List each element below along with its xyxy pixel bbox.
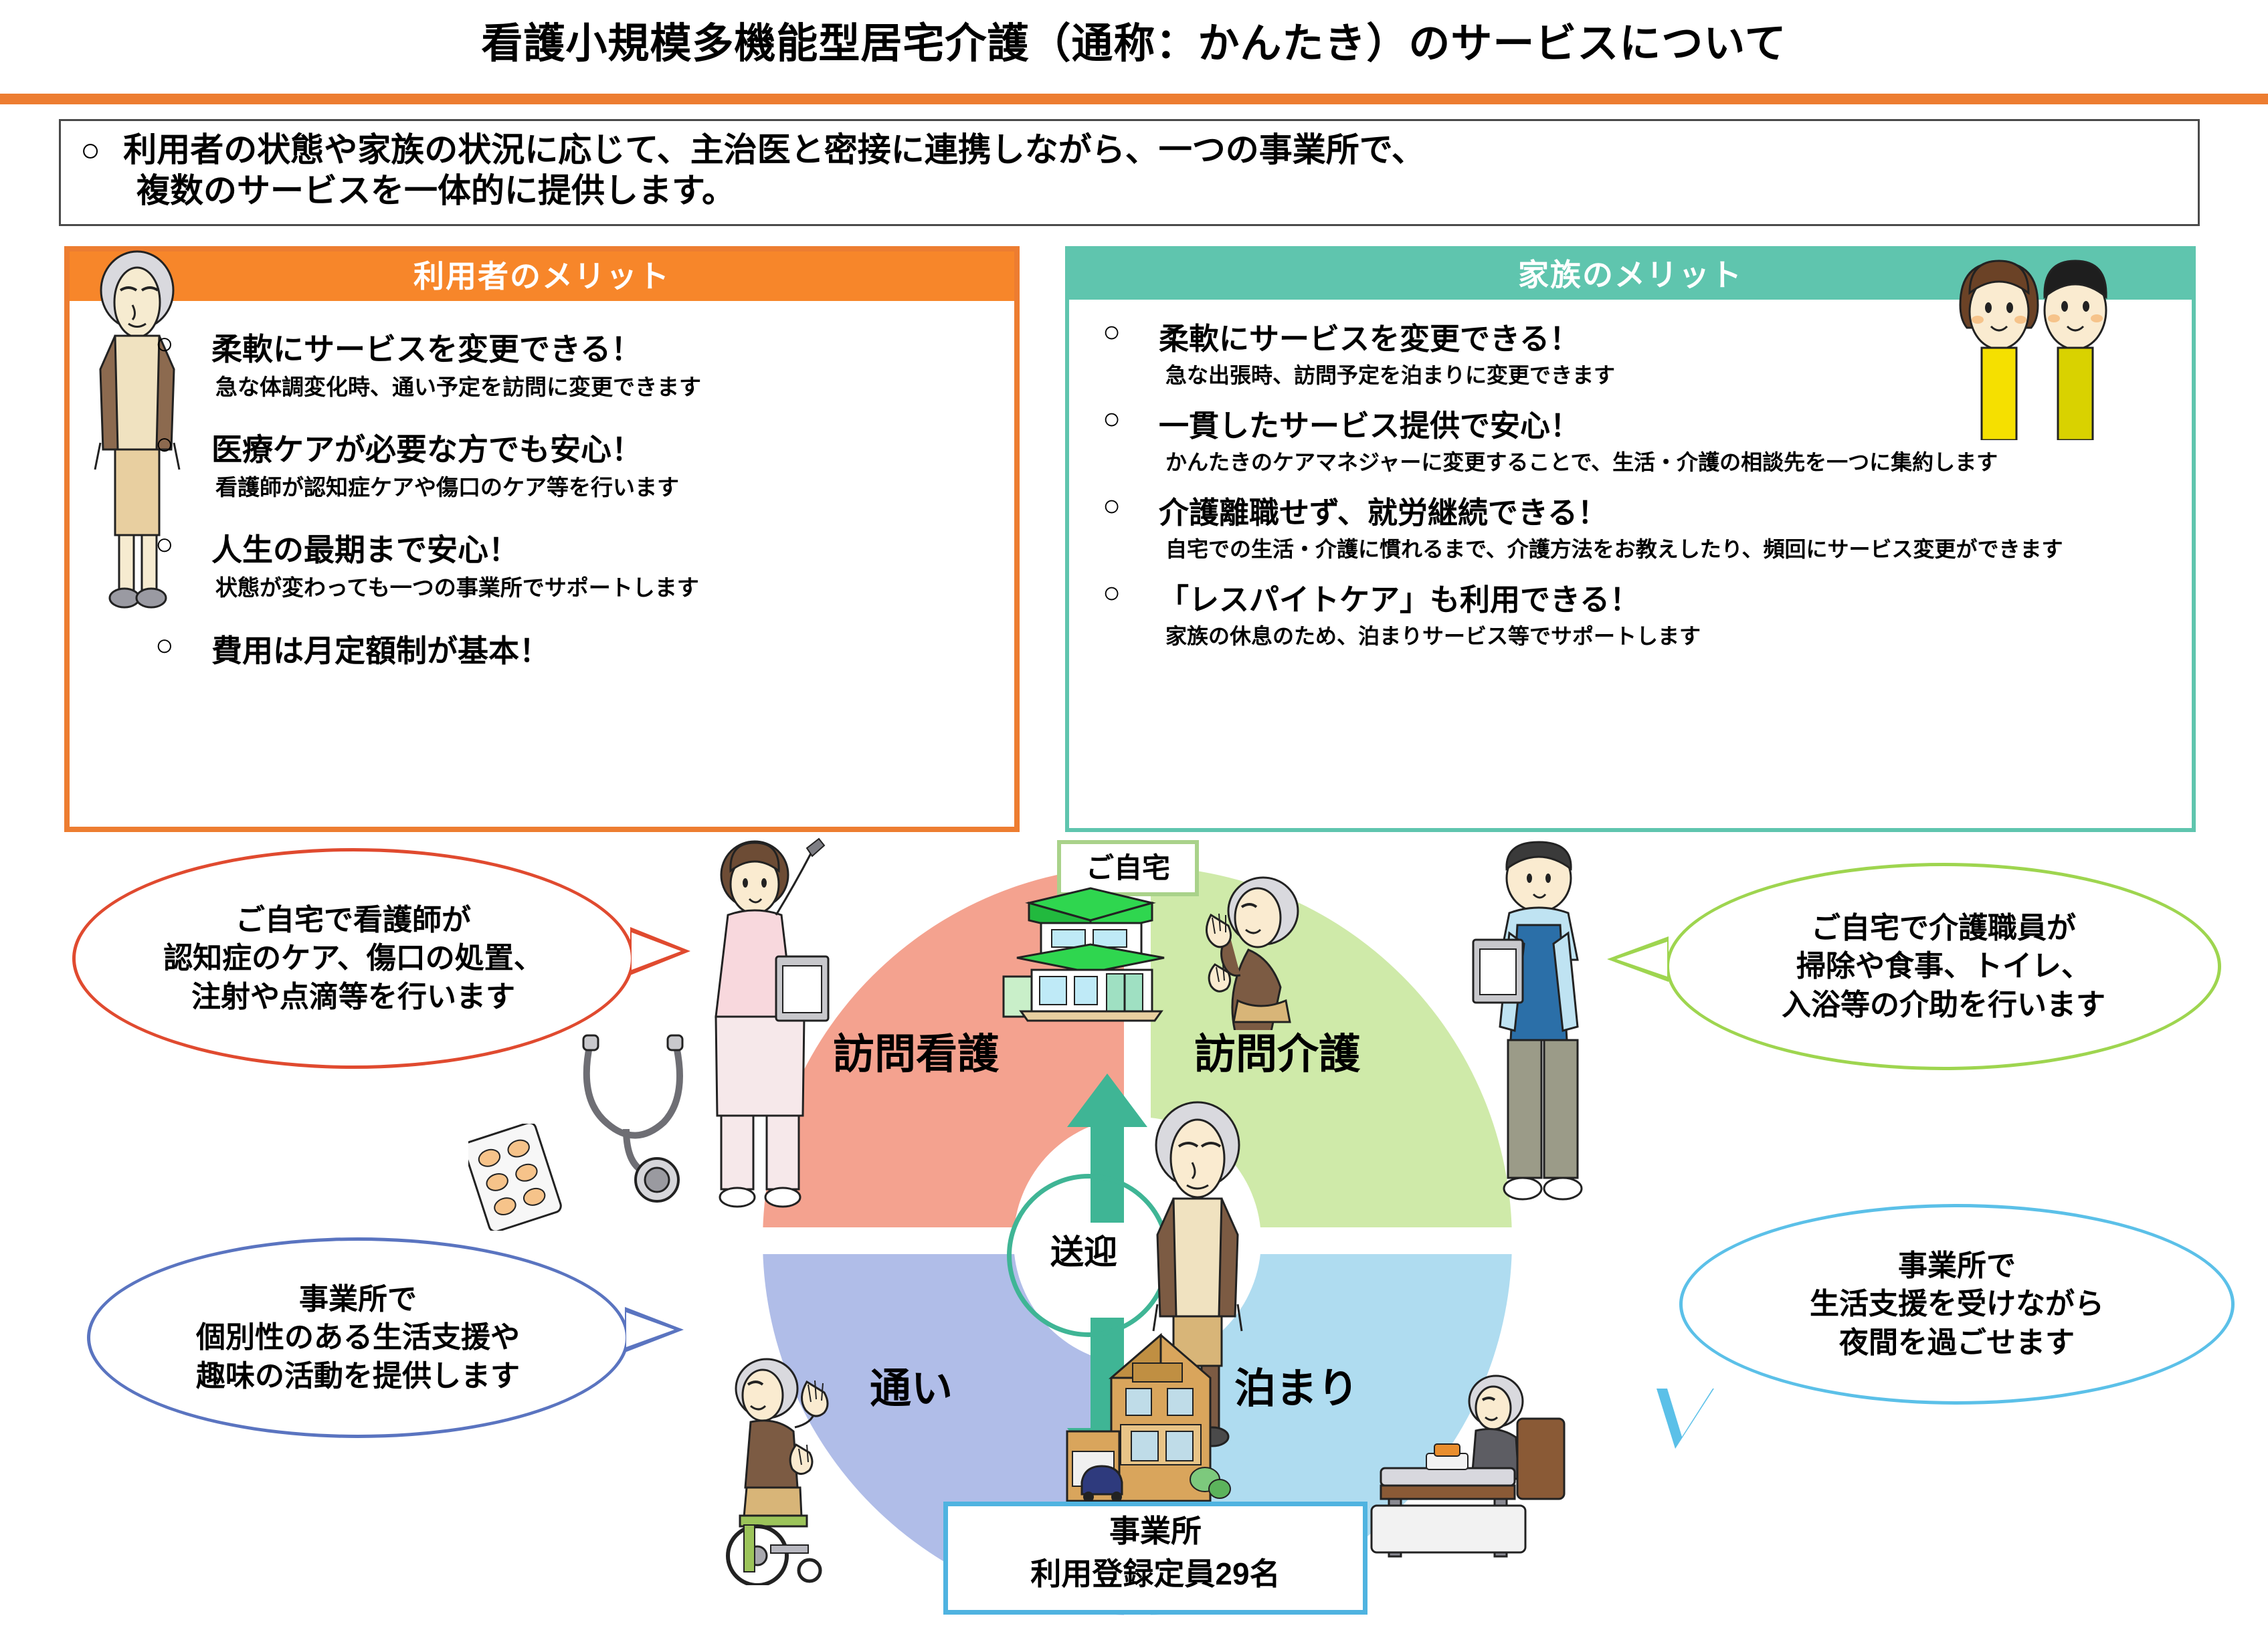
bubble-tail-inner bbox=[1616, 942, 1667, 977]
pill-sheet-icon bbox=[468, 1124, 569, 1231]
bullet-head: 医療ケアが必要な方でも安心！ bbox=[211, 425, 642, 470]
wheelchair-person-icon bbox=[709, 1358, 870, 1585]
bullet-sub: かんたきのケアマネジャーに変更することで、生活・介護の相談先を一つに集約します bbox=[1103, 449, 2173, 476]
elderly-person-waving-icon bbox=[1184, 876, 1318, 1030]
bullet-head: 一貫したサービス提供で安心！ bbox=[1159, 401, 1580, 445]
bubble-tail-inner bbox=[1667, 1389, 1713, 1437]
quadrant-label-day-service: 通い bbox=[870, 1354, 953, 1415]
statement-line-2: 複数のサービスを一体的に提供します。 bbox=[80, 171, 2168, 211]
bullet-mark: ○ bbox=[1103, 401, 1159, 445]
bullet-sub: 状態が変わっても一つの事業所でサポートします bbox=[155, 574, 1005, 602]
bubble-body: ご自宅で看護師が 認知症のケア、傷口の処置、 注射や点滴等を行います bbox=[72, 848, 634, 1069]
office-line-2: 利用登録定員29名 bbox=[948, 1549, 1363, 1592]
office-capacity-box: 事業所 利用登録定員29名 bbox=[943, 1502, 1367, 1615]
user-merit-bullets: ○柔軟にサービスを変更できる！ 急な体調変化時、通い予定を訪問に変更できます ○… bbox=[155, 325, 1005, 695]
list-item: ○医療ケアが必要な方でも安心！ 看護師が認知症ケアや傷口のケア等を行います bbox=[155, 425, 1005, 502]
user-merit-heading-label: 利用者のメリット bbox=[70, 251, 1014, 301]
list-item: ○介護離職せず、就労継続できる！ 自宅での生活・介護に慣れるまで、介護方法をお教… bbox=[1103, 488, 2173, 563]
page-title: 看護小規模多機能型居宅介護（通称：かんたき）のサービスについて bbox=[0, 9, 2268, 70]
list-item: ○「レスパイトケア」も利用できる！ 家族の休息のため、泊まりサービス等でサポート… bbox=[1103, 575, 2173, 650]
list-item: ○柔軟にサービスを変更できる！ 急な体調変化時、通い予定を訪問に変更できます bbox=[155, 325, 1005, 401]
bullet-head: 「レスパイトケア」も利用できる！ bbox=[1159, 575, 1640, 619]
bubble-text: ご自宅で看護師が 認知症のケア、傷口の処置、 注射や点滴等を行います bbox=[163, 901, 543, 1016]
speech-bubble-nurse: ご自宅で看護師が 認知症のケア、傷口の処置、 注射や点滴等を行います bbox=[72, 848, 634, 1069]
bullet-sub: 看護師が認知症ケアや傷口のケア等を行います bbox=[155, 474, 1005, 502]
bullet-mark: ○ bbox=[155, 425, 211, 470]
bubble-text: 事業所で 生活支援を受けながら 夜間を過ごせます bbox=[1810, 1247, 2104, 1362]
bullet-head: 柔軟にサービスを変更できる！ bbox=[211, 325, 642, 369]
bubble-tail-inner bbox=[632, 932, 681, 970]
transport-label: 送迎 bbox=[1020, 1223, 1147, 1276]
bullet-head: 柔軟にサービスを変更できる！ bbox=[1159, 314, 1580, 358]
list-item: ○人生の最期まで安心！ 状態が変わっても一つの事業所でサポートします bbox=[155, 526, 1005, 602]
office-line-1: 事業所 bbox=[948, 1506, 1363, 1549]
speech-bubble-night-stay: 事業所で 生活支援を受けながら 夜間を過ごせます bbox=[1679, 1204, 2235, 1405]
bullet-mark: ○ bbox=[1103, 575, 1159, 619]
speech-bubble-day-service: 事業所で 個別性のある生活支援や 趣味の活動を提供します bbox=[87, 1237, 629, 1438]
bullet-mark: ○ bbox=[155, 325, 211, 369]
office-building-icon bbox=[1047, 1324, 1248, 1518]
bullet-mark: ○ bbox=[155, 526, 211, 570]
bubble-text: 事業所で 個別性のある生活支援や 趣味の活動を提供します bbox=[196, 1280, 520, 1395]
statement-text: ○利用者の状態や家族の状況に応じて、主治医と密接に連携しながら、一つの事業所で、… bbox=[80, 130, 2168, 211]
bedside-person-icon bbox=[1365, 1375, 1566, 1568]
quadrant-label-visiting-nursing: 訪問看護 bbox=[833, 1020, 999, 1080]
speech-bubble-caregiver: ご自宅で介護職員が 掃除や食事、トイレ、 入浴等の介助を行います bbox=[1666, 863, 2221, 1070]
bubble-body: ご自宅で介護職員が 掃除や食事、トイレ、 入浴等の介助を行います bbox=[1666, 863, 2221, 1070]
bubble-tail-inner bbox=[626, 1312, 674, 1347]
bubble-body: 事業所で 生活支援を受けながら 夜間を過ごせます bbox=[1679, 1204, 2235, 1405]
title-divider bbox=[0, 94, 2268, 104]
list-item: ○一貫したサービス提供で安心！ かんたきのケアマネジャーに変更することで、生活・… bbox=[1103, 401, 2173, 476]
bullet-head: 費用は月定額制が基本！ bbox=[211, 627, 550, 671]
statement-line-1-text: 利用者の状態や家族の状況に応じて、主治医と密接に連携しながら、一つの事業所で、 bbox=[123, 131, 1425, 169]
bullet-sub: 自宅での生活・介護に慣れるまで、介護方法をお教えしたり、頻回にサービス変更ができ… bbox=[1103, 536, 2173, 563]
statement-line-1: ○利用者の状態や家族の状況に応じて、主治医と密接に連携しながら、一つの事業所で、 bbox=[80, 130, 2168, 171]
house-icon bbox=[990, 883, 1191, 1030]
bullet-mark: ○ bbox=[1103, 314, 1159, 358]
bubble-text: ご自宅で介護職員が 掃除や食事、トイレ、 入浴等の介助を行います bbox=[1782, 909, 2105, 1024]
bullet-mark: ○ bbox=[1103, 488, 1159, 532]
statement-bullet-mark: ○ bbox=[80, 131, 100, 169]
list-item: ○費用は月定額制が基本！ bbox=[155, 627, 1005, 671]
list-item: ○柔軟にサービスを変更できる！ 急な出張時、訪問予定を泊まりに変更できます bbox=[1103, 314, 2173, 389]
bullet-sub: 急な体調変化時、通い予定を訪問に変更できます bbox=[155, 373, 1005, 401]
caregiver-icon bbox=[1465, 839, 1619, 1214]
bullet-head: 人生の最期まで安心！ bbox=[211, 526, 519, 570]
bullet-sub: 家族の休息のため、泊まりサービス等でサポートします bbox=[1103, 623, 2173, 650]
family-merit-bullets: ○柔軟にサービスを変更できる！ 急な出張時、訪問予定を泊まりに変更できます ○一… bbox=[1103, 314, 2173, 662]
bullet-sub: 急な出張時、訪問予定を泊まりに変更できます bbox=[1103, 362, 2173, 389]
bubble-body: 事業所で 個別性のある生活支援や 趣味の活動を提供します bbox=[87, 1237, 629, 1438]
user-merit-header: 利用者のメリット bbox=[70, 251, 1014, 301]
bullet-head: 介護離職せず、就労継続できる！ bbox=[1159, 488, 1608, 532]
bullet-mark: ○ bbox=[155, 627, 211, 671]
